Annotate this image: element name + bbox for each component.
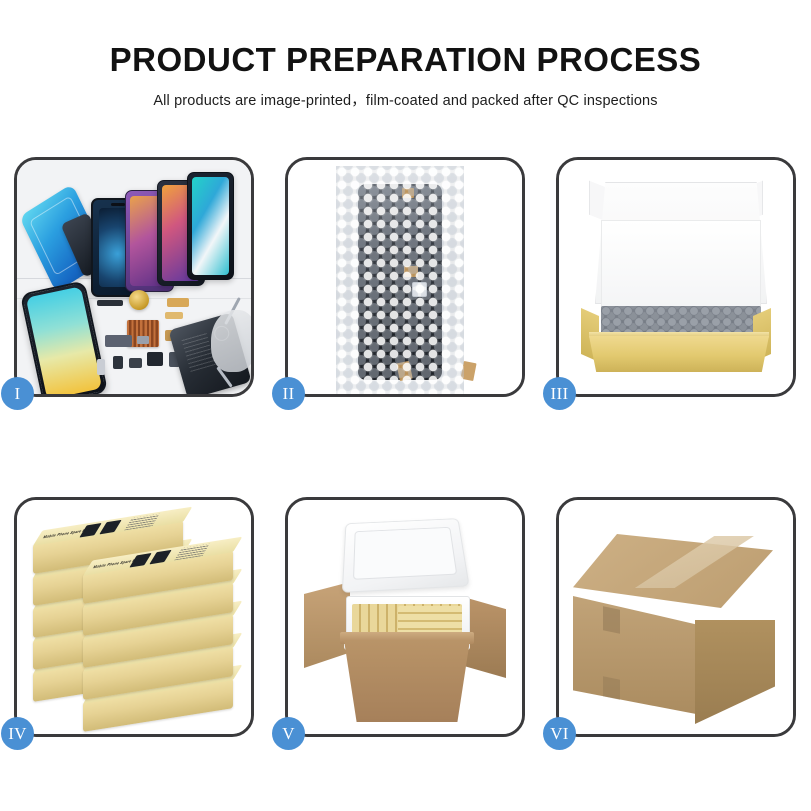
step-image-2 [288, 160, 522, 394]
bubble-wrap-texture [336, 166, 464, 394]
step-image-3 [559, 160, 793, 394]
bar-component-icon [97, 300, 123, 306]
foam-carton-image [288, 500, 522, 734]
step-card-5[interactable]: V [285, 497, 525, 737]
hand-icon [211, 310, 251, 372]
step-image-1 [17, 160, 251, 394]
page-title: PRODUCT PREPARATION PROCESS [0, 42, 811, 78]
bubble-bag [336, 166, 464, 394]
step-badge-2: II [272, 377, 305, 410]
small-part-icon-2 [129, 358, 142, 368]
tape-tab-icon-1 [603, 606, 620, 634]
step-card-1[interactable]: I [14, 157, 254, 397]
inner-box-image [559, 160, 793, 394]
bubble-wrapped-screen-image [288, 160, 522, 394]
flex-cable-icon-3 [105, 335, 132, 347]
flex-cable-icon-1 [167, 298, 189, 307]
phone-icon-4 [187, 172, 234, 280]
carton-side-panel [695, 620, 775, 724]
step-image-6 [559, 500, 793, 734]
flex-cable-icon-2 [165, 312, 183, 319]
sealed-carton-image [559, 500, 793, 734]
small-part-icon-1 [113, 356, 123, 369]
coil-component-icon [129, 290, 149, 310]
step-card-2[interactable]: II [285, 157, 525, 397]
stacked-boxes-image: Mobile Phone Spare Parts Mobile Phone Sp… [17, 500, 251, 734]
page-subtitle: All products are image-printed，film-coat… [0, 89, 811, 110]
small-part-icon-5 [97, 359, 105, 375]
carton-front-panel [573, 596, 696, 714]
step-badge-3: III [543, 377, 576, 410]
process-step-grid: I II [14, 157, 797, 737]
box-front-panel [589, 336, 769, 372]
step-badge-6: VI [543, 717, 576, 750]
step-card-3[interactable]: III [556, 157, 796, 397]
phone-notch-icon [111, 203, 125, 206]
small-part-icon-3 [147, 352, 163, 366]
carton-flap-left [304, 582, 350, 668]
box-stack: Mobile Phone Spare Parts Mobile Phone Sp… [27, 522, 247, 722]
header: PRODUCT PREPARATION PROCESS All products… [0, 42, 811, 110]
small-part-icon-6 [137, 336, 149, 344]
step-badge-1: I [1, 377, 34, 410]
step-image-5 [288, 500, 522, 734]
foam-lid [342, 518, 470, 593]
step-card-6[interactable]: VI [556, 497, 796, 737]
tape-tab-icon-2 [603, 676, 620, 700]
step-badge-5: V [272, 717, 305, 750]
step-card-4[interactable]: Mobile Phone Spare Parts Mobile Phone Sp… [14, 497, 254, 737]
product-preparation-infographic: PRODUCT PREPARATION PROCESS All products… [0, 0, 811, 811]
step-badge-4: IV [1, 717, 34, 750]
box-inner-wall [601, 220, 761, 308]
carton-body [344, 640, 470, 722]
parts-collage-image [17, 160, 251, 394]
step-image-4: Mobile Phone Spare Parts Mobile Phone Sp… [17, 500, 251, 734]
